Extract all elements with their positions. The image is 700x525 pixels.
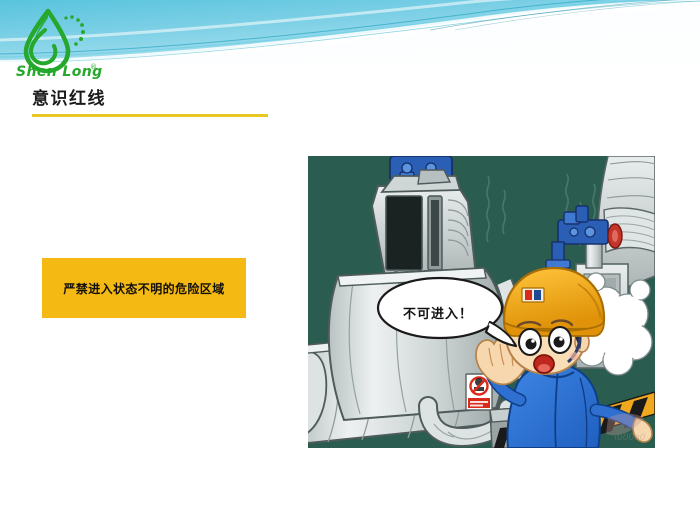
shen-long-logo: Shen Long ® (14, 8, 106, 80)
warning-callout-text: 严禁进入状态不明的危险区域 (63, 280, 224, 297)
page-title: 意识红线 (32, 88, 106, 110)
svg-text:\u00a0: \u00a0 (614, 433, 646, 443)
svg-text:®: ® (90, 63, 97, 71)
industrial-safety-cartoon: \u00a0 (308, 156, 655, 448)
droplet-icon (26, 11, 68, 71)
warning-callout-box: 严禁进入状态不明的危险区域 (42, 258, 246, 318)
valve-wheel-red (608, 224, 622, 248)
title-underline (32, 114, 268, 117)
slide-canvas: Shen Long ® 意识红线 严禁进入状态不明的危险区域 (0, 0, 700, 525)
logo-wordmark: Shen Long ® (16, 63, 103, 80)
